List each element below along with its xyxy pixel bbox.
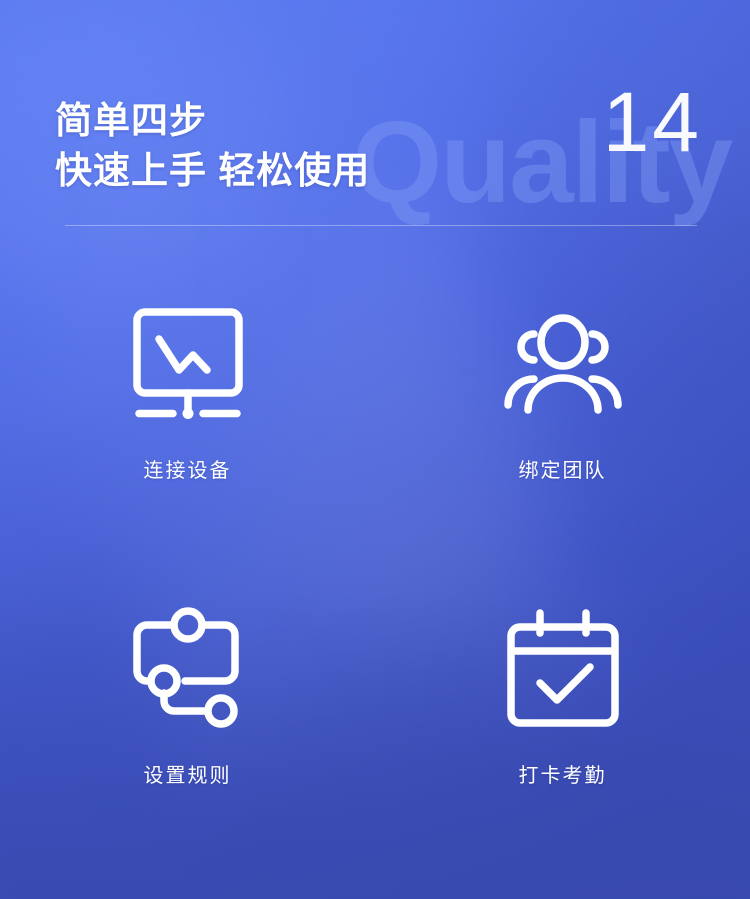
step-item-connect-device[interactable]: 连接设备	[0, 300, 375, 483]
node-flow-icon	[123, 605, 253, 735]
page-title: 简单四步 快速上手 轻松使用	[55, 96, 370, 196]
step-label: 连接设备	[144, 454, 232, 483]
step-item-attendance[interactable]: 打卡考勤	[375, 605, 750, 788]
page-title-line-2: 快速上手 轻松使用	[55, 146, 370, 196]
step-label: 设置规则	[144, 759, 232, 788]
step-item-set-rules[interactable]: 设置规则	[0, 605, 375, 788]
step-label: 绑定团队	[519, 454, 607, 483]
steps-grid: 连接设备 绑定团队	[0, 300, 750, 788]
page-title-line-1: 简单四步	[55, 96, 370, 146]
promo-poster: Quality 简单四步 快速上手 轻松使用 14 连接设备	[0, 0, 750, 899]
calendar-check-icon	[498, 605, 628, 735]
page-number: 14	[603, 80, 702, 164]
step-item-bind-team[interactable]: 绑定团队	[375, 300, 750, 483]
poster-header: 简单四步 快速上手 轻松使用 14	[0, 0, 750, 232]
step-label: 打卡考勤	[519, 759, 607, 788]
header-divider	[65, 225, 697, 226]
people-group-icon	[498, 300, 628, 430]
monitor-chart-icon	[123, 300, 253, 430]
